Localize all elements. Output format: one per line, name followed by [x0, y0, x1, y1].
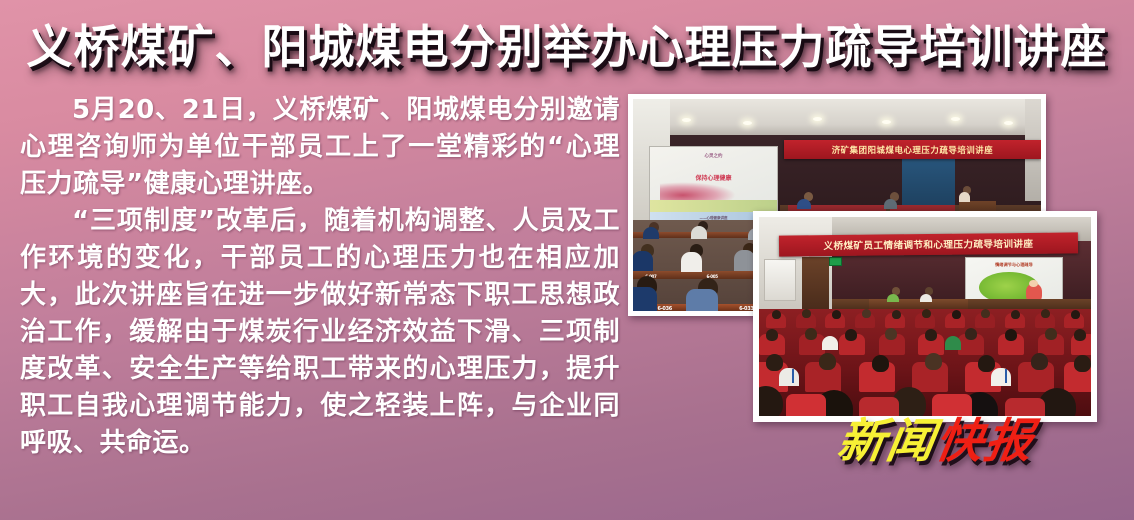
door: [802, 257, 829, 309]
photo-2-banner: 义桥煤矿员工情绪调节和心理压力疏导培训讲座: [779, 232, 1078, 256]
audience-area: [759, 309, 1091, 416]
slide-heading: 情绪调节与心理疏导: [966, 262, 1062, 268]
news-flash-logo: 新闻快报: [834, 418, 1037, 465]
seat-tag: 6-033: [739, 306, 754, 312]
photo-1-banner: 济矿集团阳城煤电心理压力疏导培训讲座: [784, 140, 1041, 159]
slide-subtext: 保持心理健康: [650, 173, 776, 182]
ceiling: [633, 99, 1041, 135]
logo-text-red: 快报: [932, 414, 1039, 469]
lanyard: [1005, 369, 1007, 383]
lanyard: [792, 369, 794, 383]
article-body: 5月20、21日，义桥煤矿、阳城煤电分别邀请心理咨询师为单位干部员工上了一堂精彩…: [20, 92, 620, 462]
article-paragraph-1: 5月20、21日，义桥煤矿、阳城煤电分别邀请心理咨询师为单位干部员工上了一堂精彩…: [20, 92, 620, 203]
page-title: 义桥煤矿、阳城煤电分别举办心理压力疏导培训讲座: [27, 24, 1108, 70]
poster-title-bar: 义桥煤矿、阳城煤电分别举办心理压力疏导培训讲座: [0, 8, 1134, 86]
person-torso: [959, 192, 970, 202]
photo-yiqiao-lecture: 义桥煤矿员工情绪调节和心理压力疏导培训讲座 情绪调节与心理疏导: [753, 211, 1097, 422]
person-torso: [884, 199, 897, 209]
photo-2-banner-text: 义桥煤矿员工情绪调节和心理压力疏导培训讲座: [823, 236, 1033, 252]
photo-2-scene: 义桥煤矿员工情绪调节和心理压力疏导培训讲座 情绪调节与心理疏导: [759, 217, 1091, 416]
article-paragraph-2: “三项制度”改革后，随着机构调整、人员及工作环境的变化，干部员工的心理压力也在相…: [20, 203, 620, 462]
photo-1-banner-text: 济矿集团阳城煤电心理压力疏导培训讲座: [832, 144, 994, 156]
head-table: [869, 299, 969, 309]
exit-sign-icon: [829, 257, 842, 266]
logo-text-yellow: 新闻: [834, 414, 941, 469]
slide-heading: 心灵之约: [650, 153, 776, 159]
seat-tag: 6-036: [657, 306, 672, 312]
wall-panel: [764, 259, 796, 301]
news-poster: 义桥煤矿、阳城煤电分别举办心理压力疏导培训讲座 5月20、21日，义桥煤矿、阳城…: [0, 0, 1134, 520]
